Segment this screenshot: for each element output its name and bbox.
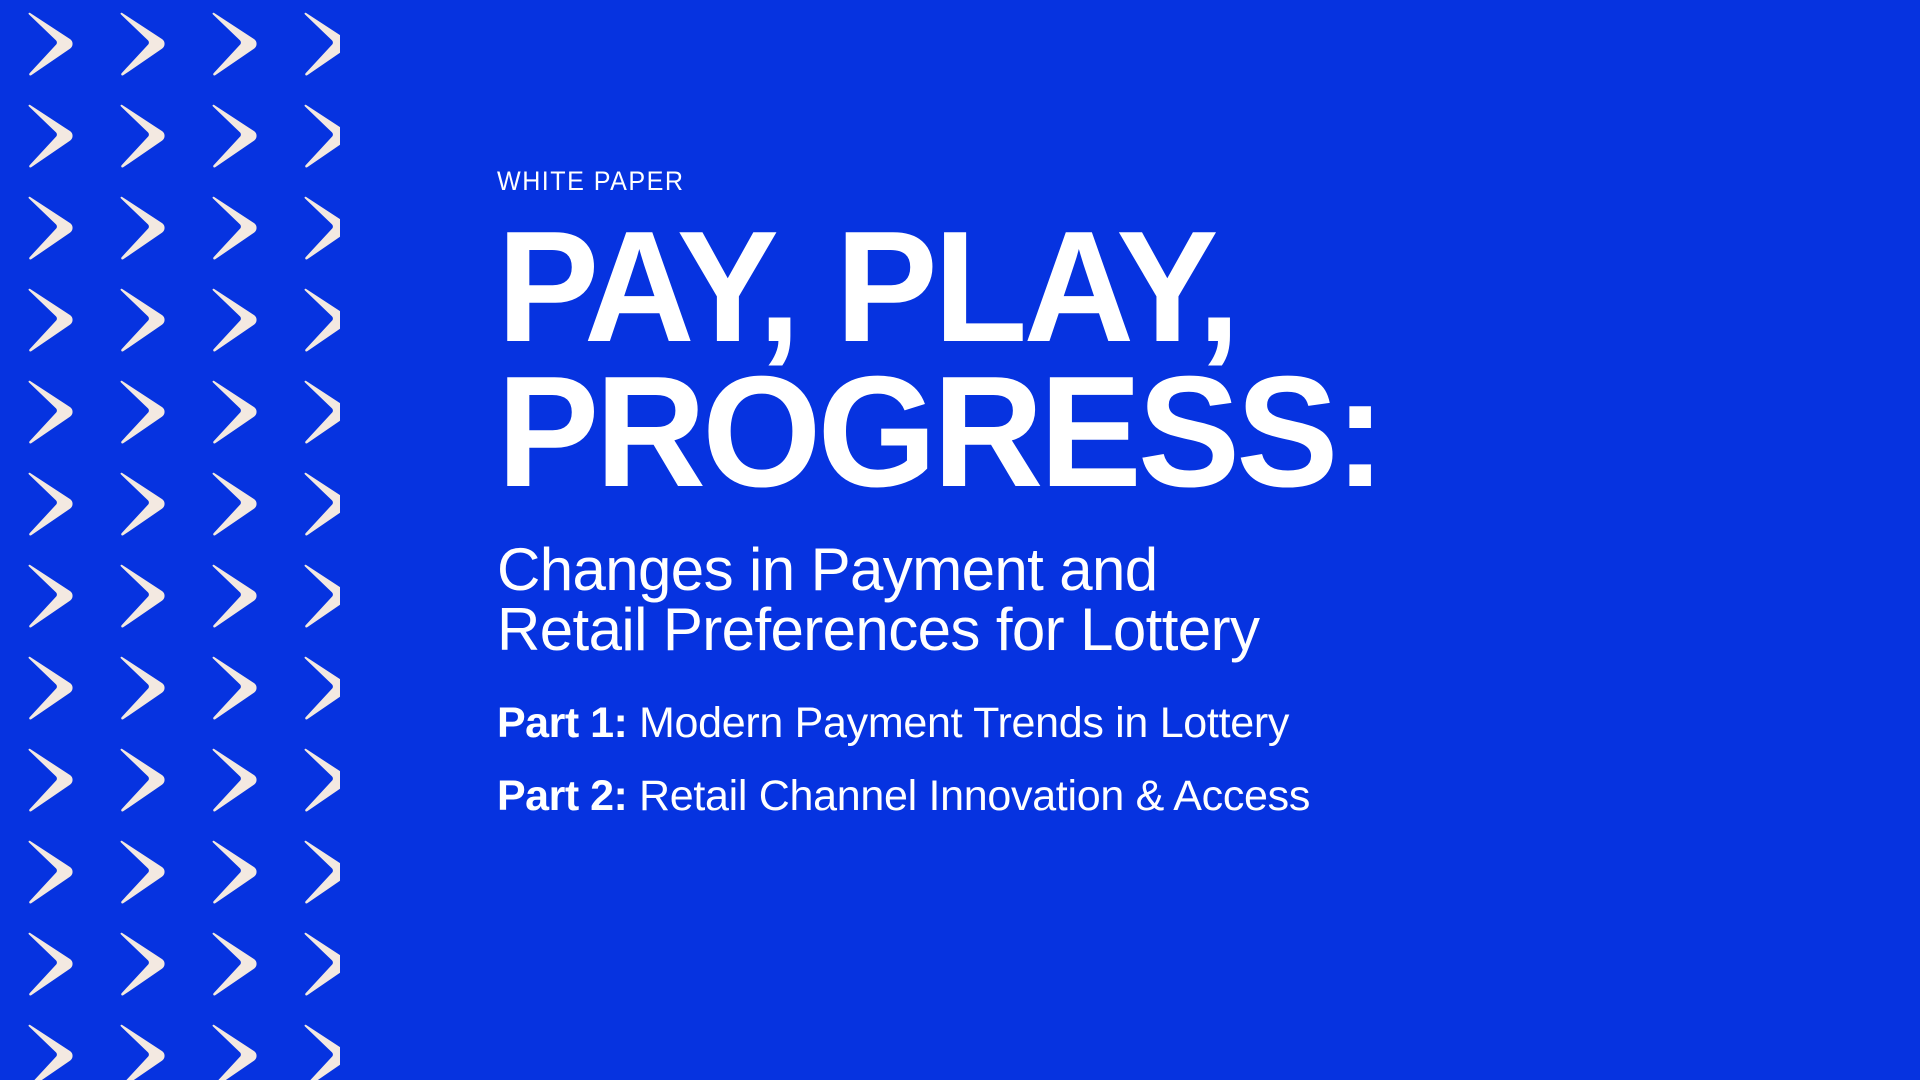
part-item: Part 2: Retail Channel Innovation & Acce… <box>497 775 1857 818</box>
page-subtitle: Changes in Payment and Retail Preference… <box>497 540 1259 660</box>
chevron-right-icon <box>28 104 74 168</box>
part-item: Part 1: Modern Payment Trends in Lottery <box>497 702 1857 745</box>
white-paper-cover: WHITE PAPER PAY, PLAY, PROGRESS: Changes… <box>0 0 1920 1080</box>
part-2-text: Retail Channel Innovation & Access <box>627 772 1310 820</box>
chevron-right-icon <box>28 12 74 76</box>
chevron-right-icon <box>28 564 74 628</box>
chevron-right-icon <box>28 472 74 536</box>
cover-content: WHITE PAPER PAY, PLAY, PROGRESS: Changes… <box>497 0 1857 1080</box>
chevron-right-icon <box>120 748 166 812</box>
chevron-right-icon <box>28 288 74 352</box>
chevron-right-icon <box>120 12 166 76</box>
chevron-right-icon <box>304 564 340 628</box>
chevron-pattern-band <box>0 0 340 1080</box>
chevron-right-icon <box>212 288 258 352</box>
chevron-right-icon <box>212 564 258 628</box>
headline-line-2: PROGRESS: <box>497 360 1382 505</box>
chevron-right-icon <box>212 12 258 76</box>
chevron-right-icon <box>28 932 74 996</box>
chevron-right-icon <box>212 932 258 996</box>
chevron-right-icon <box>120 380 166 444</box>
chevron-right-icon <box>28 840 74 904</box>
chevron-right-icon <box>212 840 258 904</box>
eyebrow-label: WHITE PAPER <box>497 168 685 195</box>
chevron-right-icon <box>120 564 166 628</box>
chevron-right-icon <box>120 196 166 260</box>
chevron-right-icon <box>304 840 340 904</box>
parts-list: Part 1: Modern Payment Trends in Lottery… <box>497 702 1857 818</box>
chevron-right-icon <box>120 104 166 168</box>
chevron-right-icon <box>120 656 166 720</box>
chevron-right-icon <box>212 196 258 260</box>
chevron-right-icon <box>28 748 74 812</box>
chevron-right-icon <box>120 840 166 904</box>
chevron-right-icon <box>304 932 340 996</box>
chevron-right-icon <box>28 380 74 444</box>
chevron-right-icon <box>304 656 340 720</box>
chevron-right-icon <box>28 196 74 260</box>
chevron-right-icon <box>120 932 166 996</box>
chevron-right-icon <box>212 656 258 720</box>
chevron-right-icon <box>28 1024 74 1080</box>
chevron-right-icon <box>120 472 166 536</box>
chevron-right-icon <box>120 1024 166 1080</box>
chevron-right-icon <box>212 104 258 168</box>
chevron-right-icon <box>304 748 340 812</box>
chevron-right-icon <box>304 472 340 536</box>
part-1-label: Part 1: <box>497 699 627 747</box>
chevron-right-icon <box>304 104 340 168</box>
headline-line-1: PAY, PLAY, <box>497 215 1382 360</box>
chevron-right-icon <box>28 656 74 720</box>
page-title: PAY, PLAY, PROGRESS: <box>497 215 1382 506</box>
subtitle-line-2: Retail Preferences for Lottery <box>497 600 1259 660</box>
part-1-text: Modern Payment Trends in Lottery <box>627 699 1289 747</box>
chevron-right-icon <box>120 288 166 352</box>
chevron-right-icon <box>212 380 258 444</box>
chevron-right-icon <box>304 380 340 444</box>
chevron-right-icon <box>212 748 258 812</box>
chevron-right-icon <box>212 1024 258 1080</box>
chevron-right-icon <box>304 1024 340 1080</box>
part-2-label: Part 2: <box>497 772 627 820</box>
subtitle-line-1: Changes in Payment and <box>497 540 1259 600</box>
chevron-right-icon <box>304 196 340 260</box>
chevron-right-icon <box>304 288 340 352</box>
chevron-right-icon <box>212 472 258 536</box>
chevron-right-icon <box>304 12 340 76</box>
